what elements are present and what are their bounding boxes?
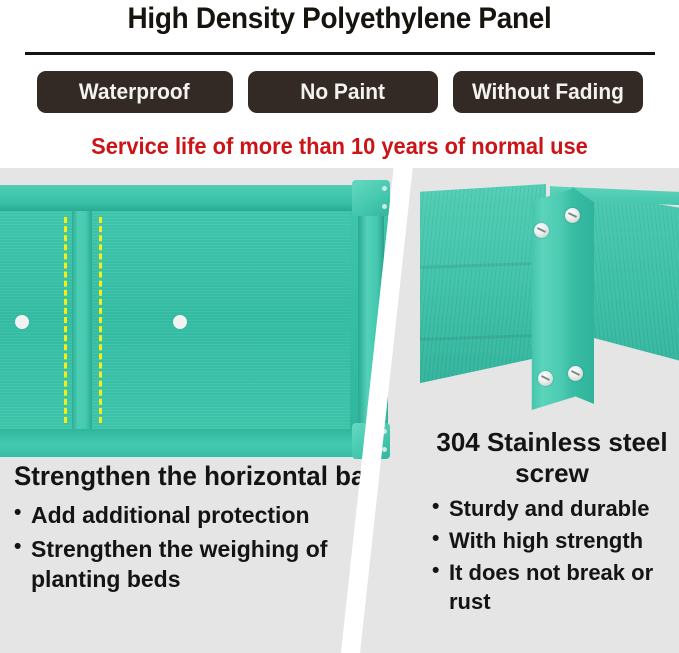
- bed-wall-left: [420, 184, 546, 384]
- list-item: With high strength: [432, 526, 672, 555]
- garden-bed-top-rail: [0, 185, 388, 211]
- stainless-screw-icon: [568, 366, 583, 381]
- left-panel-heading: Strengthen the horizontal bar: [14, 460, 394, 492]
- corner-cap-top: [352, 180, 390, 216]
- cap-screw-icon: [382, 204, 387, 209]
- wall-board-seam: [420, 334, 542, 342]
- service-life-tagline: Service life of more than 10 years of no…: [17, 133, 662, 160]
- drainage-hole: [173, 315, 187, 329]
- drainage-hole: [15, 315, 29, 329]
- feature-badge-waterproof: Waterproof: [37, 71, 233, 113]
- feature-panels-section: Strengthen the horizontal bar Add additi…: [0, 168, 679, 653]
- feature-badge-label: Waterproof: [79, 79, 190, 105]
- list-item: It does not break or rust: [432, 558, 672, 616]
- feature-badge-without-fading: Without Fading: [453, 71, 643, 113]
- right-panel-text: 304 Stainless steel screw Sturdy and dur…: [432, 427, 672, 619]
- right-panel-heading: 304 Stainless steel screw: [432, 427, 672, 488]
- highlight-dashed-line-left: [64, 217, 67, 423]
- right-panel-bullet-list: Sturdy and durable With high strength It…: [432, 494, 672, 616]
- list-item: Sturdy and durable: [432, 494, 672, 523]
- stainless-screw-icon: [534, 223, 549, 238]
- horizontal-cross-bar: [72, 211, 92, 429]
- feature-badge-label: No Paint: [300, 79, 385, 105]
- garden-bed-bottom-rail: [0, 429, 388, 457]
- cap-screw-icon: [382, 447, 387, 452]
- highlight-dashed-line-right: [99, 217, 102, 423]
- stainless-screw-icon: [565, 208, 580, 223]
- title-divider-rule: [25, 52, 655, 55]
- horizontal-bar-product-photo: [0, 168, 420, 462]
- page-title: High Density Polyethylene Panel: [24, 2, 655, 36]
- cap-screw-icon: [382, 186, 387, 191]
- stainless-screw-icon: [538, 371, 553, 386]
- stainless-screw-product-photo: [420, 168, 679, 430]
- feature-badge-no-paint: No Paint: [248, 71, 438, 113]
- list-item: Add additional protection: [14, 500, 410, 530]
- header-section: High Density Polyethylene Panel Waterpro…: [0, 0, 679, 168]
- feature-badge-label: Without Fading: [472, 79, 624, 105]
- feature-badge-row: Waterproof No Paint Without Fading: [0, 70, 679, 114]
- right-feature-panel: 304 Stainless steel screw Sturdy and dur…: [420, 168, 679, 653]
- corner-assembly-scene: [420, 168, 679, 430]
- wall-board-seam: [420, 262, 542, 270]
